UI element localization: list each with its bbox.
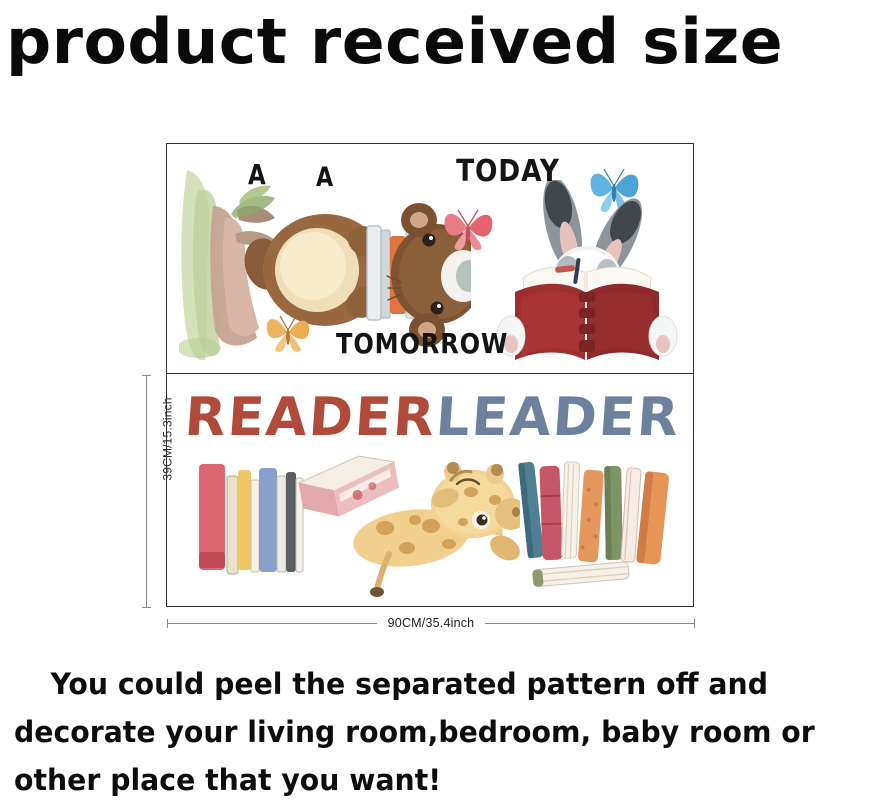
giraffe-lying-on-books-illustration xyxy=(345,462,520,597)
decal-headline: READER LEADER xyxy=(185,382,677,452)
width-dimension-rule-left xyxy=(167,623,377,624)
caption-line-3: other place that you want! xyxy=(14,756,820,804)
decal-word-a-1: A xyxy=(248,158,267,191)
headline-word-reader: READER xyxy=(183,387,438,448)
grey-rabbit-reading-red-book-illustration xyxy=(489,180,684,368)
height-dimension-label: 39CM/15.3inch xyxy=(161,397,175,480)
width-dimension-rule-right xyxy=(485,623,695,624)
stack-of-standing-books-illustration xyxy=(195,458,305,578)
decal-panel-today-tomorrow: A A TODAY TOMORROW xyxy=(167,144,693,371)
decal-panel-reader-leader: READER LEADER xyxy=(167,373,693,605)
caption-text: You could peel the separated pattern off… xyxy=(14,660,820,804)
page-title: product received size xyxy=(6,4,869,80)
caption-line-2: decorate your living room,bedroom, baby … xyxy=(14,708,820,756)
decal-word-tomorrow: TOMORROW xyxy=(336,327,508,360)
width-dimension-label: 90CM/35.4inch xyxy=(377,616,486,630)
width-dimension-guide: 90CM/35.4inch xyxy=(167,615,695,631)
headline-word-leader: LEADER xyxy=(434,387,682,448)
decal-word-a-2: A xyxy=(316,162,334,193)
wall-decal-sheet: A A TODAY TOMORROW READER LEADER xyxy=(166,143,694,607)
pink-butterfly-illustration xyxy=(440,202,496,252)
caption-line-1: You could peel the separated pattern off… xyxy=(14,660,820,708)
orange-butterfly-illustration xyxy=(263,308,313,354)
decal-word-today: TODAY xyxy=(456,154,560,189)
height-dimension-line xyxy=(146,375,147,608)
row-of-colorful-book-spines-illustration xyxy=(513,458,673,588)
